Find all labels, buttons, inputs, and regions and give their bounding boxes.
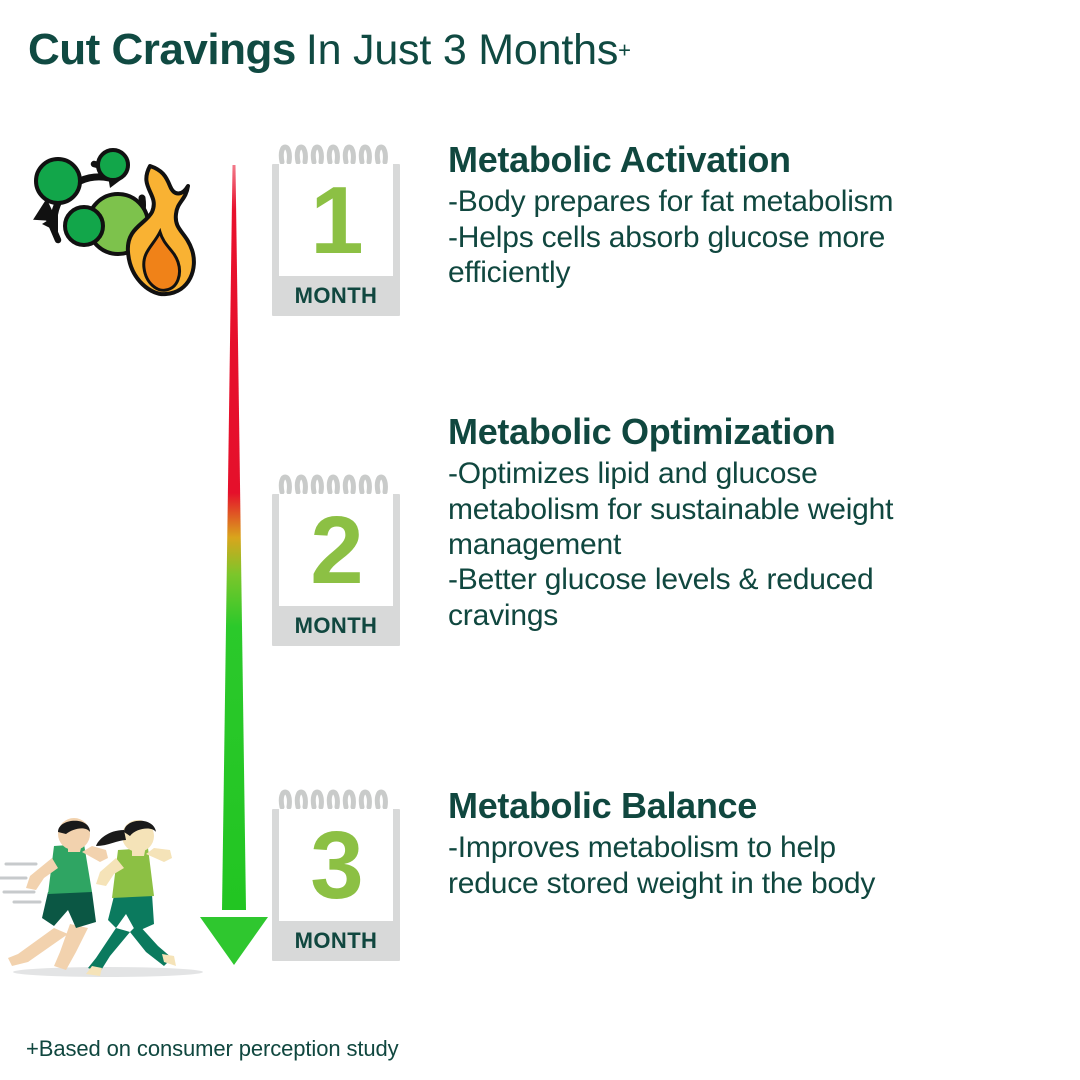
calendar-page: 1 [279, 164, 393, 276]
calendar-body: 3 MONTH [272, 809, 400, 961]
step-bullet-line: -Helps cells absorb glucose more [448, 220, 1066, 255]
infographic-canvas: Cut CravingsIn Just 3 Months+ [0, 0, 1080, 1080]
step-bullet-line: cravings [448, 598, 1066, 633]
calendar-coils-icon [272, 783, 400, 809]
calendar-card-month-1: 1 MONTH [272, 138, 400, 316]
calendar-body: 1 MONTH [272, 164, 400, 316]
calendar-unit-label: MONTH [295, 928, 378, 954]
calendar-page: 3 [279, 809, 393, 921]
calendar-coils-icon [272, 468, 400, 494]
step-text-month-2: Metabolic Optimization -Optimizes lipid … [448, 412, 1066, 633]
calendar-card-month-2: 2 MONTH [272, 468, 400, 646]
step-bullet-line: -Better glucose levels & reduced [448, 562, 1066, 597]
step-heading: Metabolic Activation [448, 140, 1066, 180]
running-people-icon [0, 806, 226, 986]
calendar-coils-icon [272, 138, 400, 164]
calendar-unit-label: MONTH [295, 613, 378, 639]
step-bullet-line: reduce stored weight in the body [448, 866, 1066, 901]
step-bullet-line: -Improves metabolism to help [448, 830, 1066, 865]
calendar-body: 2 MONTH [272, 494, 400, 646]
step-heading: Metabolic Optimization [448, 412, 1066, 452]
calendar-card-month-3: 3 MONTH [272, 783, 400, 961]
step-bullet-line: -Optimizes lipid and glucose [448, 456, 1066, 491]
calendar-page: 2 [279, 494, 393, 606]
footnote-disclaimer: +Based on consumer perception study [26, 1036, 399, 1062]
page-title-bold: Cut Cravings [28, 25, 296, 74]
step-bullet-line: -Body prepares for fat metabolism [448, 184, 1066, 219]
step-text-month-3: Metabolic Balance -Improves metabolism t… [448, 786, 1066, 901]
step-bullet-line: metabolism for sustainable weight [448, 492, 1066, 527]
calendar-footer: MONTH [272, 606, 400, 646]
page-title-superscript: + [618, 38, 631, 63]
calendar-footer: MONTH [272, 276, 400, 316]
calendar-footer: MONTH [272, 921, 400, 961]
step-bullet-line: management [448, 527, 1066, 562]
calendar-number: 1 [310, 173, 361, 269]
step-text-month-1: Metabolic Activation -Body prepares for … [448, 140, 1066, 290]
calendar-unit-label: MONTH [295, 283, 378, 309]
calendar-number: 2 [310, 503, 361, 599]
metabolism-flame-icon [14, 128, 204, 308]
calendar-number: 3 [310, 818, 361, 914]
step-heading: Metabolic Balance [448, 786, 1066, 826]
step-bullet-line: efficiently [448, 255, 1066, 290]
page-title-light: In Just 3 Months [306, 26, 618, 74]
page-title: Cut CravingsIn Just 3 Months+ [28, 28, 631, 72]
